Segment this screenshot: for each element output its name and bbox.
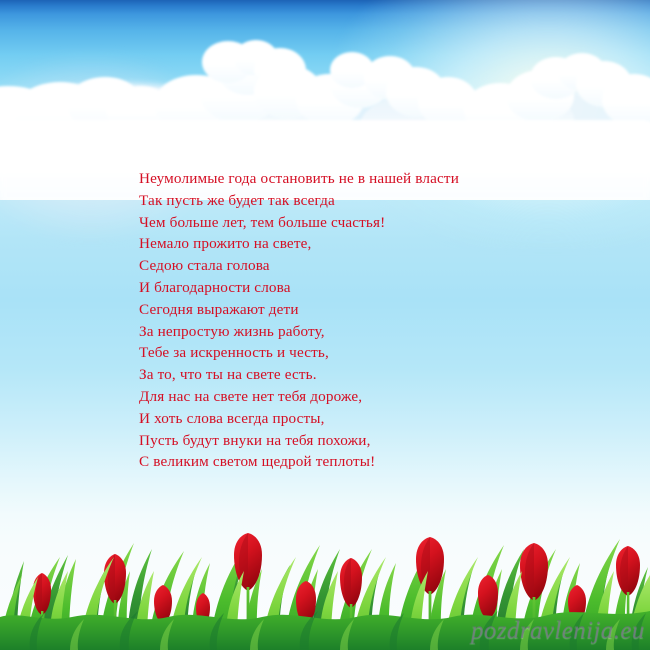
poem-line: Седою стала голова: [139, 255, 609, 277]
poem-line: И благодарности слова: [139, 277, 609, 299]
poem-line: Пусть будут внуки на тебя похожи,: [139, 430, 609, 452]
poem-line: За то, что ты на свете есть.: [139, 364, 609, 386]
poem-line: И хоть слова всегда просты,: [139, 408, 609, 430]
poem-line: Сегодня выражают дети: [139, 299, 609, 321]
poem-line: Чем больше лет, тем больше счастья!: [139, 212, 609, 234]
poem-line: С великим светом щедрой теплоты!: [139, 451, 609, 473]
poem-line: Так пусть же будет так всегда: [139, 190, 609, 212]
poem-text: Неумолимые года остановить не в нашей вл…: [139, 168, 609, 473]
poem-line: Для нас на свете нет тебя дороже,: [139, 386, 609, 408]
greeting-card: Неумолимые года остановить не в нашей вл…: [0, 0, 650, 650]
poem-line: Неумолимые года остановить не в нашей вл…: [139, 168, 609, 190]
poem-line: За непростую жизнь работу,: [139, 321, 609, 343]
poem-line: Немало прожито на свете,: [139, 233, 609, 255]
grass-and-tulips-border: [0, 515, 650, 650]
poem-line: Тебе за искренность и честь,: [139, 342, 609, 364]
